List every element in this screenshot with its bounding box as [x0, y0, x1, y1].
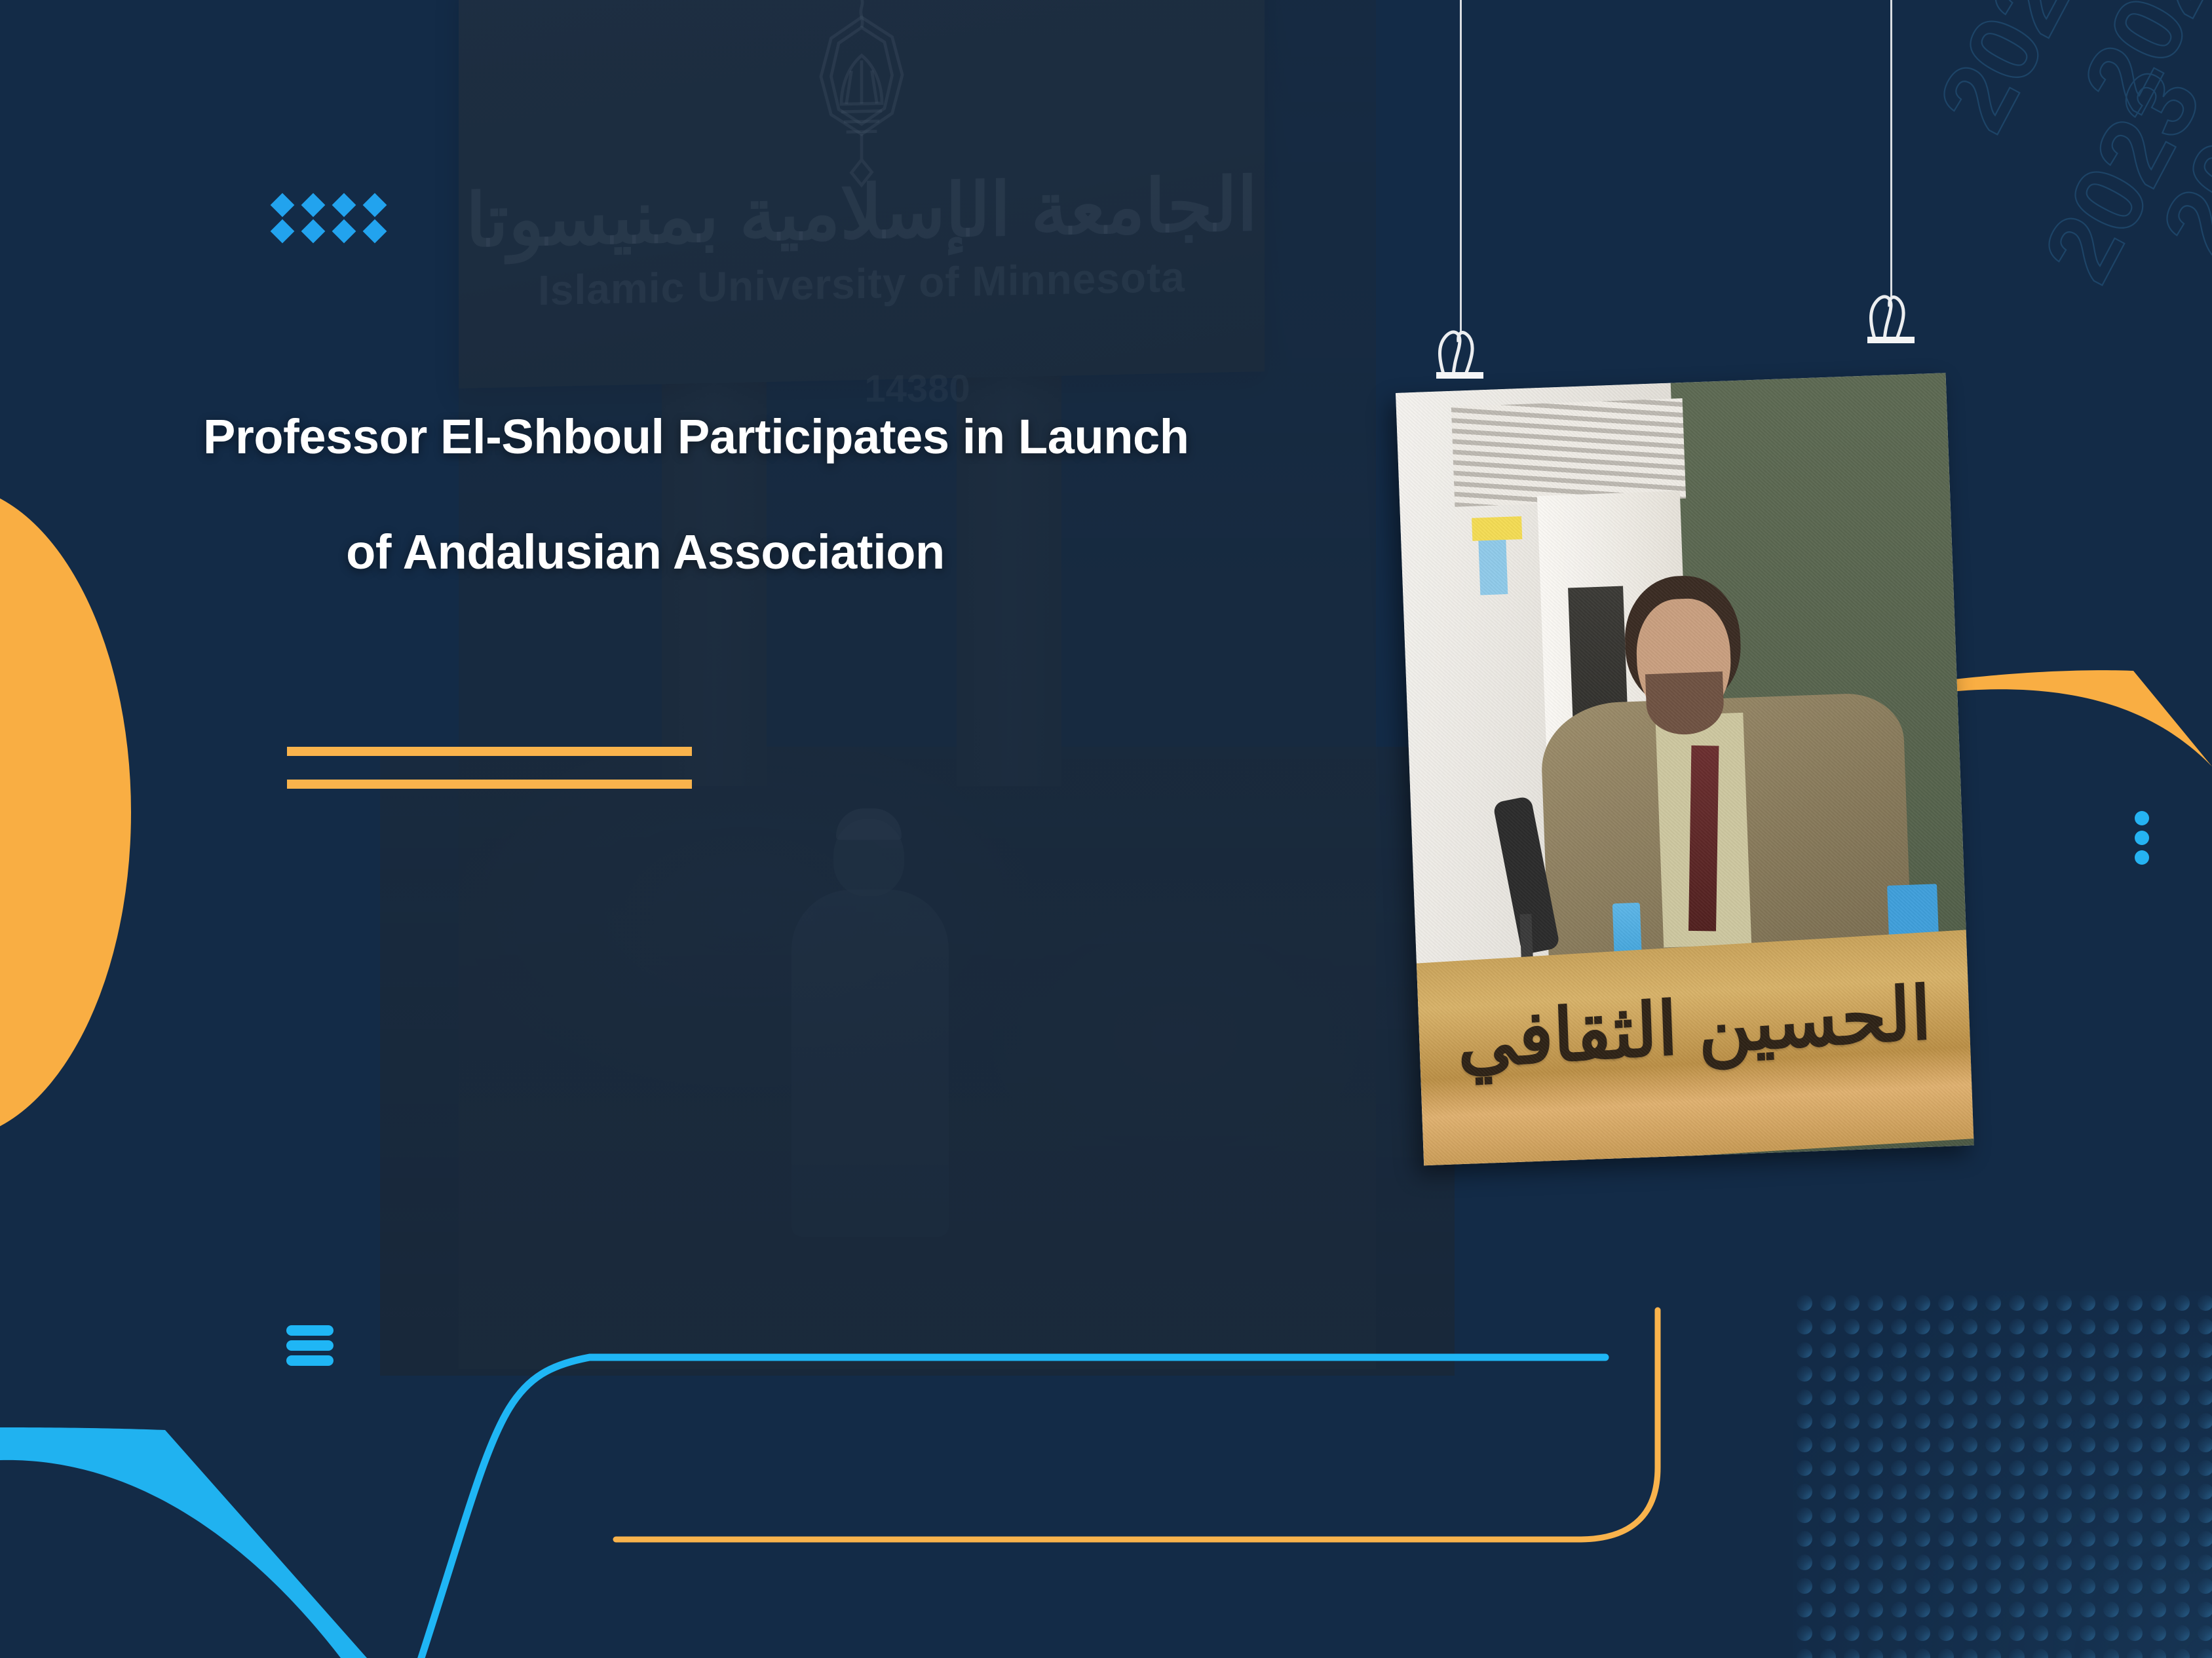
orange-rule-top [287, 747, 692, 756]
title-line-2: of Andalusian Association [203, 528, 1278, 576]
hanging-photo-assembly: الحسين الثقافي [1382, 0, 1972, 1245]
diamond-dot [363, 219, 387, 244]
diamond-dot [271, 193, 295, 217]
dot [2135, 831, 2149, 845]
diamond-dot [332, 193, 356, 217]
hanging-wire-left [1460, 0, 1462, 334]
hamburger-bar [286, 1325, 334, 1336]
orange-double-rule [287, 747, 692, 789]
diamond-dot [271, 219, 295, 244]
diamond-dot-grid [274, 197, 397, 249]
hamburger-bar [286, 1340, 334, 1351]
vertical-dots-icon [2135, 811, 2149, 865]
event-photo: الحسين الثقافي [1396, 373, 1974, 1165]
slide-canvas: الجامعة الإسلامية بمنيسوتا Islamic Unive… [0, 0, 2212, 1658]
hamburger-icon[interactable] [286, 1325, 334, 1366]
blue-curve-line [419, 1357, 1605, 1658]
hanging-wire-right [1890, 0, 1892, 298]
orange-circle-shape [0, 485, 131, 1140]
diamond-dot [301, 193, 326, 217]
dot [2135, 811, 2149, 825]
diamond-dot [332, 219, 356, 244]
orange-rule-bottom [287, 780, 692, 789]
diamond-dot [363, 193, 387, 217]
title-block: Professor El-Shboul Participates in Laun… [203, 413, 1278, 576]
title-line-1: Professor El-Shboul Participates in Laun… [203, 413, 1278, 461]
dot [2135, 850, 2149, 865]
hamburger-bar [286, 1355, 334, 1366]
binder-clip-icon-left [1428, 322, 1491, 379]
orange-wedge-shape [1937, 629, 2212, 904]
diamond-dot [301, 219, 326, 244]
orange-curve-line [616, 1310, 1658, 1539]
binder-clip-icon-right [1859, 287, 1922, 343]
